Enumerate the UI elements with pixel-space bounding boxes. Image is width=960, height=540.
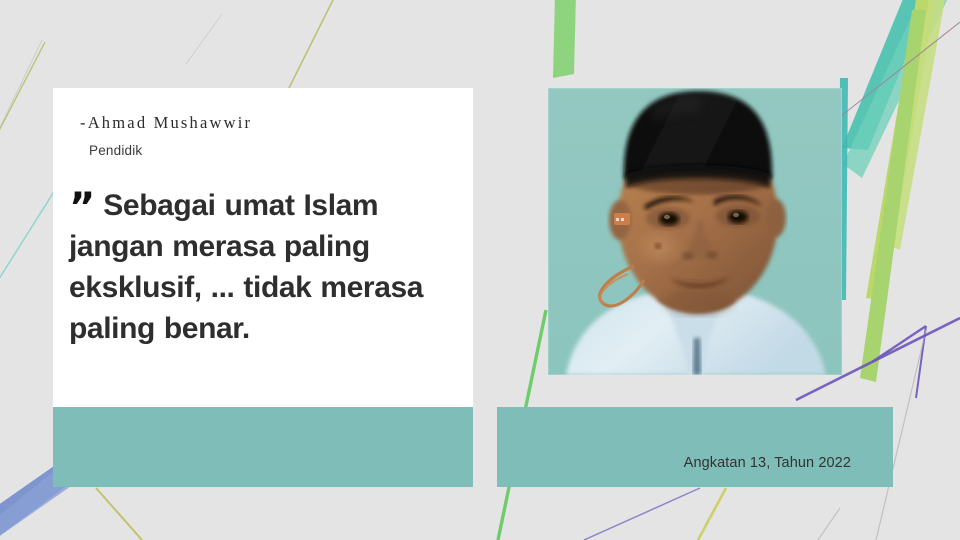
quote-text: Sebagai umat Islam jangan merasa paling …	[69, 189, 423, 345]
slide-canvas: -Ahmad Mushawwir Pendidik ”Sebagai umat …	[0, 0, 960, 540]
quote-text-block: ”Sebagai umat Islam jangan merasa paling…	[69, 185, 465, 349]
caption-text: Angkatan 13, Tahun 2022	[684, 455, 851, 471]
teal-bar-caption: Angkatan 13, Tahun 2022	[497, 407, 893, 487]
quote-card: -Ahmad Mushawwir Pendidik ”Sebagai umat …	[53, 88, 473, 407]
decor-line-olive-topleft	[0, 42, 45, 152]
teal-bar-left	[53, 407, 473, 487]
quote-mark-icon: ”	[69, 185, 103, 231]
author-role: Pendidik	[89, 143, 142, 158]
decor-line-purple-bottom	[584, 488, 700, 540]
decor-line-olive-bottomleft	[96, 488, 142, 540]
decor-line-teal-left	[0, 190, 55, 290]
portrait-illustration	[548, 88, 842, 375]
decor-line-grey-top	[186, 14, 222, 64]
decor-line-grey-bottomright	[818, 508, 840, 540]
decor-line-olive-top	[285, 0, 336, 96]
author-name: -Ahmad Mushawwir	[80, 113, 252, 133]
decor-line-yellow-bottom	[698, 488, 726, 540]
decor-line-grey-topleft	[0, 40, 42, 148]
decor-ribbon-green-top	[553, 0, 576, 78]
portrait-photo	[548, 88, 842, 375]
